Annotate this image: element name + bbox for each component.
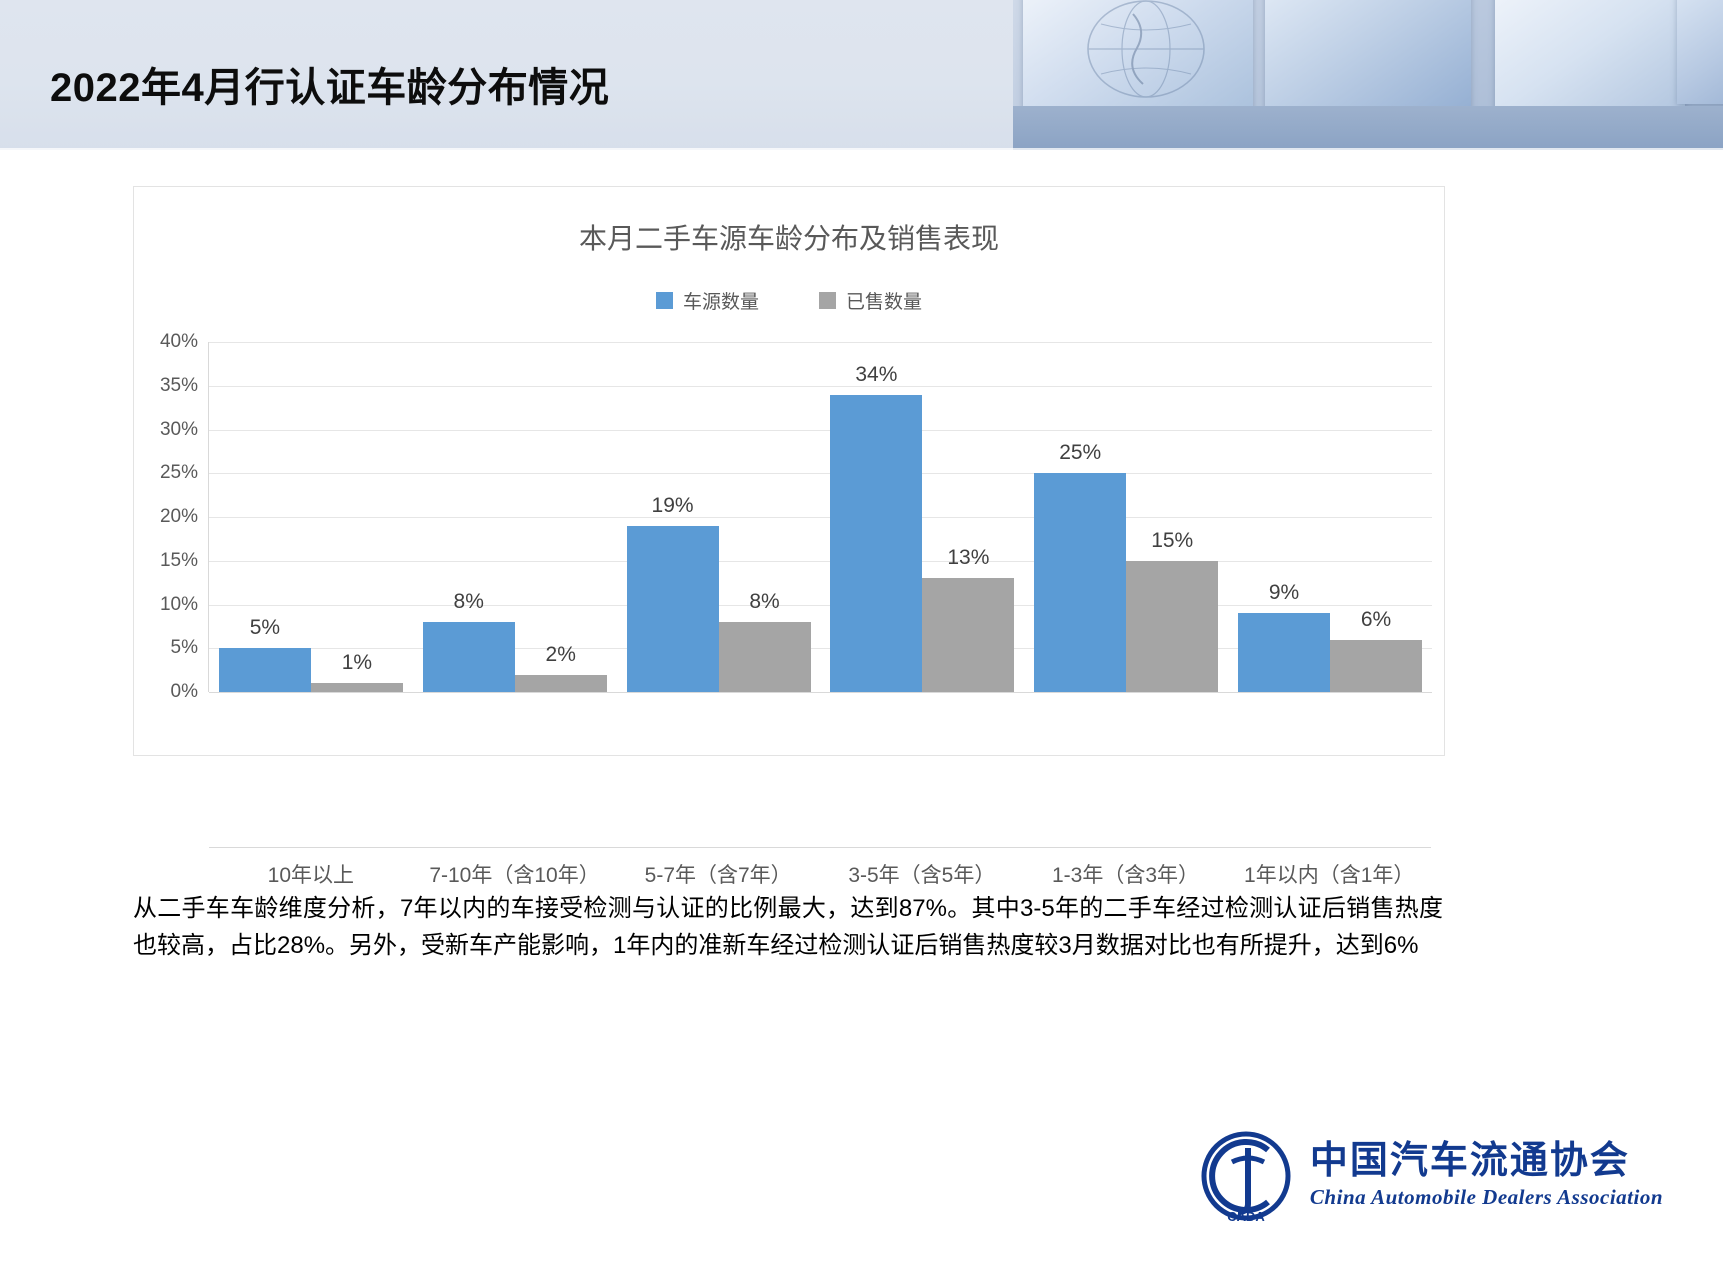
cada-logo-english: China Automobile Dealers Association — [1310, 1185, 1663, 1210]
legend-item[interactable]: 已售数量 — [819, 287, 922, 314]
bar-value-label: 15% — [1151, 529, 1193, 553]
y-axis-tick-label: 5% — [171, 637, 198, 659]
bar-group: 25%15% — [1024, 342, 1228, 692]
legend-square-icon — [819, 292, 836, 309]
bar-value-label: 8% — [454, 590, 484, 614]
decorative-cube-icon — [1023, 0, 1253, 118]
bar[interactable] — [1330, 640, 1422, 693]
x-axis-tick-label: 7-10年（含10年） — [413, 859, 617, 889]
bar-group: 34%13% — [820, 342, 1024, 692]
art-floor — [1013, 106, 1723, 150]
y-axis-tick-label: 0% — [171, 681, 198, 703]
chart-legend: 车源数量已售数量 — [134, 287, 1444, 314]
legend-label: 已售数量 — [846, 287, 922, 314]
svg-text:CADA: CADA — [1227, 1209, 1265, 1224]
bar-value-label: 8% — [749, 590, 779, 614]
bar-slot: 19% — [627, 342, 719, 692]
y-axis-tick-label: 20% — [160, 506, 198, 528]
y-axis-tick-label: 35% — [160, 375, 198, 397]
legend-label: 车源数量 — [683, 287, 759, 314]
bar-slot: 1% — [311, 342, 403, 692]
x-axis-tick-label: 10年以上 — [209, 859, 413, 889]
cada-logo-chinese: 中国汽车流通协会 — [1310, 1142, 1663, 1182]
bar-group: 5%1% — [209, 342, 413, 692]
x-axis-tick-label: 5-7年（含7年） — [616, 859, 820, 889]
bar-slot: 8% — [423, 342, 515, 692]
slide-root: 2022年4月行认证车龄分布情况 本月二手车源车龄分布及销售表现 车源数量已售数… — [0, 0, 1723, 1284]
bar[interactable] — [1126, 561, 1218, 692]
globe-icon — [1071, 0, 1221, 102]
decorative-cube-icon — [1495, 0, 1685, 116]
x-axis: 10年以上7-10年（含10年）5-7年（含7年）3-5年（含5年）1-3年（含… — [209, 859, 1431, 889]
x-axis-tick-label: 1年以内（含1年） — [1227, 859, 1431, 889]
bar-value-label: 25% — [1059, 441, 1101, 465]
page-title: 2022年4月行认证车龄分布情况 — [50, 68, 609, 108]
bar-slot: 9% — [1238, 342, 1330, 692]
bar-value-label: 34% — [855, 363, 897, 387]
bar[interactable] — [1238, 613, 1330, 692]
bar-value-label: 9% — [1269, 581, 1299, 605]
cada-logo: CADA 中国汽车流通协会 China Automobile Dealers A… — [1198, 1128, 1663, 1224]
bar[interactable] — [219, 648, 311, 692]
bar-value-label: 1% — [342, 651, 372, 675]
bar-slot: 5% — [219, 342, 311, 692]
bar[interactable] — [515, 675, 607, 693]
y-axis-tick-label: 10% — [160, 594, 198, 616]
bar-slot: 15% — [1126, 342, 1218, 692]
bar-slot: 13% — [922, 342, 1014, 692]
x-axis-line — [209, 847, 1431, 848]
y-axis-tick-label: 25% — [160, 462, 198, 484]
bar-group: 8%2% — [413, 342, 617, 692]
y-axis: 40%35%30%25%20%15%10%5%0% — [148, 342, 208, 692]
bar-groups: 5%1%8%2%19%8%34%13%25%15%9%6% — [209, 342, 1432, 692]
y-axis-tick-label: 30% — [160, 419, 198, 441]
bar-value-label: 6% — [1361, 608, 1391, 632]
cada-logo-text: 中国汽车流通协会 China Automobile Dealers Associ… — [1310, 1142, 1663, 1211]
bar[interactable] — [830, 395, 922, 693]
bar-value-label: 5% — [250, 616, 280, 640]
bar[interactable] — [423, 622, 515, 692]
x-axis-tick-label: 3-5年（含5年） — [820, 859, 1024, 889]
decorative-cube-icon — [1677, 0, 1723, 104]
bar-value-label: 2% — [546, 643, 576, 667]
gridline — [209, 692, 1432, 693]
bar-slot: 6% — [1330, 342, 1422, 692]
bar-slot: 34% — [830, 342, 922, 692]
bar-slot: 2% — [515, 342, 607, 692]
chart-container: 本月二手车源车龄分布及销售表现 车源数量已售数量 40%35%30%25%20%… — [133, 186, 1445, 756]
analysis-paragraph: 从二手车车龄维度分析，7年以内的车接受检测与认证的比例最大，达到87%。其中3-… — [133, 890, 1443, 964]
cada-emblem-icon: CADA — [1198, 1128, 1294, 1224]
decorative-cube-icon — [1265, 0, 1471, 116]
bar-value-label: 19% — [652, 494, 694, 518]
cada-logo-mark-icon: CADA — [1198, 1128, 1294, 1224]
bar[interactable] — [627, 526, 719, 692]
chart-title: 本月二手车源车龄分布及销售表现 — [134, 217, 1444, 257]
bar[interactable] — [922, 578, 1014, 692]
bar[interactable] — [719, 622, 811, 692]
bar-group: 9%6% — [1228, 342, 1432, 692]
bar-slot: 25% — [1034, 342, 1126, 692]
legend-square-icon — [656, 292, 673, 309]
y-axis-tick-label: 15% — [160, 550, 198, 572]
bar[interactable] — [311, 683, 403, 692]
header-decorative-art — [1013, 0, 1723, 150]
bar[interactable] — [1034, 473, 1126, 692]
bar-value-label: 13% — [947, 546, 989, 570]
bar-group: 19%8% — [617, 342, 821, 692]
y-axis-tick-label: 40% — [160, 331, 198, 353]
x-axis-tick-label: 1-3年（含3年） — [1024, 859, 1228, 889]
bar-slot: 8% — [719, 342, 811, 692]
legend-item[interactable]: 车源数量 — [656, 287, 759, 314]
chart-plot-area: 40%35%30%25%20%15%10%5%0% 5%1%8%2%19%8%3… — [148, 342, 1432, 692]
